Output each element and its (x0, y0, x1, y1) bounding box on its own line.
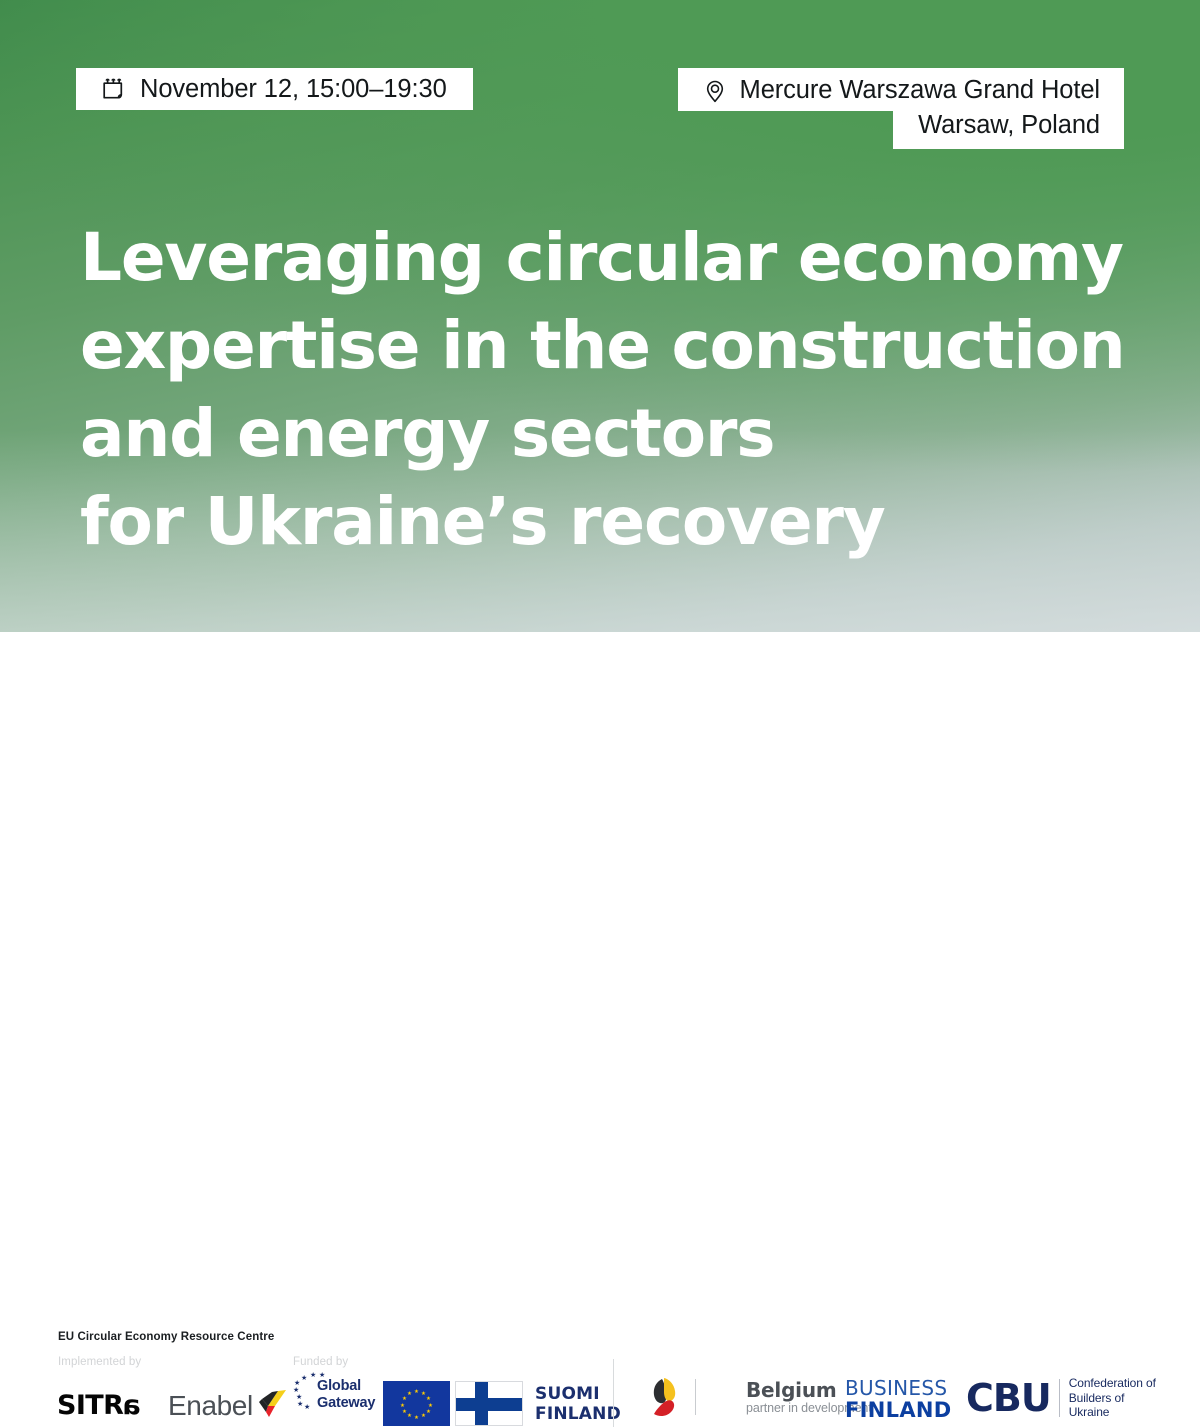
cbu-line1: Confederation of (1069, 1376, 1156, 1390)
cbu-divider (1059, 1379, 1060, 1417)
logo-sitra: SITRa (57, 1390, 141, 1421)
cbu-line3: Ukraine (1069, 1405, 1110, 1419)
event-city-text: Warsaw, Poland (918, 111, 1100, 139)
event-venue-text: Mercure Warszawa Grand Hotel (740, 77, 1100, 104)
footer-divider (613, 1359, 614, 1427)
logo-cbu: CBU Confederation of Builders of Ukraine (966, 1376, 1156, 1420)
headline-line-1: Leveraging circular economy (80, 214, 1140, 302)
sitra-wordmark-part1: SITR (57, 1390, 123, 1421)
logo-european-union-flag: ★ ★ ★ ★ ★ ★ ★ ★ ★ ★ ★ ★ (383, 1381, 450, 1426)
suomi-finland-line1: SUOMI (535, 1384, 600, 1404)
eu-flag-icon: ★ ★ ★ ★ ★ ★ ★ ★ ★ ★ ★ ★ (383, 1381, 450, 1426)
event-info-chips: November 12, 15:00–19:30 Mercure Warszaw… (76, 68, 1124, 149)
funded-by-label: Funded by (293, 1356, 348, 1368)
event-location-row-primary: Mercure Warszawa Grand Hotel (678, 68, 1124, 111)
logo-business-finland: BUSINESS FINLAND (845, 1378, 951, 1422)
logo-enabel: Enabel (168, 1388, 289, 1420)
sitra-wordmark-part2: a (123, 1390, 141, 1421)
hero-banner: November 12, 15:00–19:30 Mercure Warszaw… (0, 0, 1200, 632)
headline-line-2: expertise in the construction (80, 302, 1140, 390)
global-gateway-line1: Global (317, 1378, 361, 1394)
headline-line-4: for Ukraine’s recovery (80, 478, 1140, 566)
headline-line-3: and energy sectors (80, 390, 1140, 478)
business-finland-line1: BUSINESS (845, 1378, 947, 1399)
belgian-tricolour-check-icon (255, 1388, 289, 1418)
event-date-text: November 12, 15:00–19:30 (140, 76, 447, 103)
programme-title: EU Circular Economy Resource Centre (58, 1331, 274, 1343)
calendar-icon (101, 76, 127, 102)
event-headline: Leveraging circular economy expertise in… (80, 214, 1140, 566)
business-finland-line2: FINLAND (845, 1399, 951, 1422)
suomi-finland-line2: FINLAND (535, 1404, 621, 1424)
finland-flag-icon (455, 1381, 523, 1426)
partner-logo-footer: EU Circular Economy Resource Centre Impl… (0, 632, 1200, 848)
cbu-line2: Builders of (1069, 1391, 1125, 1405)
cbu-abbreviation: CBU (966, 1378, 1051, 1418)
belgium-leaf-icon (648, 1376, 688, 1418)
logo-belgium-partner-in-development: Belgium partner in development (648, 1376, 872, 1418)
event-date-chip: November 12, 15:00–19:30 (76, 68, 473, 110)
enabel-wordmark: Enabel (168, 1388, 253, 1420)
event-location-chip: Mercure Warszawa Grand Hotel Warsaw, Pol… (678, 68, 1124, 149)
map-pin-icon (703, 78, 727, 104)
implemented-by-label: Implemented by (58, 1356, 141, 1368)
event-location-row-secondary: Warsaw, Poland (893, 111, 1124, 149)
logo-global-gateway: ★ ★ ★ ★ ★ ★ ★ ★ Global Gateway (290, 1374, 370, 1418)
logo-suomi-finland: SUOMI FINLAND (455, 1381, 621, 1426)
global-gateway-line2: Gateway (317, 1395, 375, 1411)
